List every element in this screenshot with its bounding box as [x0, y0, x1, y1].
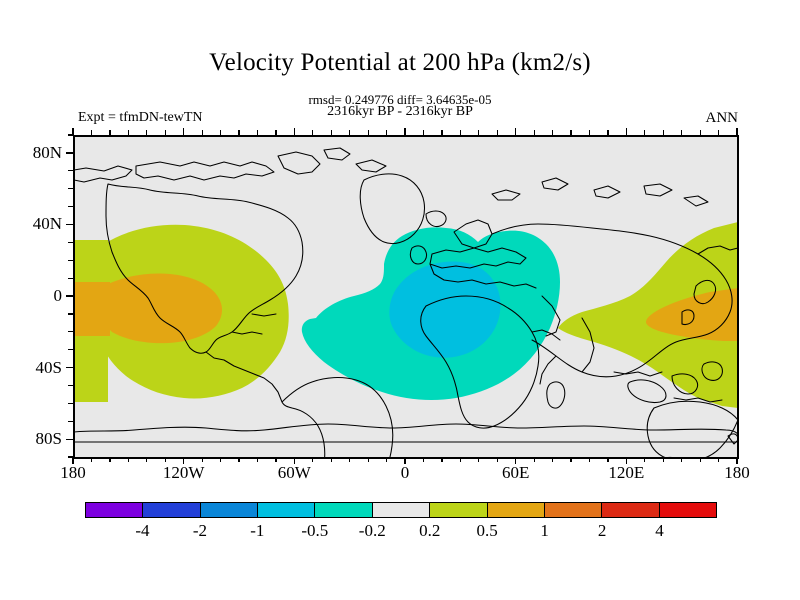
longitude-tick-top	[220, 130, 221, 135]
latitude-tick	[68, 349, 73, 350]
longitude-tick	[91, 457, 92, 462]
longitude-tick	[386, 457, 387, 462]
longitude-tick-top	[441, 130, 442, 135]
longitude-tick-top	[515, 128, 516, 135]
longitude-tick-top	[607, 130, 608, 135]
longitude-tick	[552, 457, 553, 462]
latitude-tick	[66, 367, 73, 368]
longitude-tick	[349, 457, 350, 462]
longitude-tick-top	[238, 130, 239, 135]
colorbar-tick-label-2: -1	[250, 521, 264, 541]
colorbar-band-6[interactable]	[430, 503, 487, 517]
colorbar-band-7[interactable]	[488, 503, 545, 517]
colorbar-band-4[interactable]	[315, 503, 372, 517]
longitude-tick-top	[183, 128, 184, 135]
longitude-tick-top	[72, 128, 73, 135]
page-title: Velocity Potential at 200 hPa (km2/s)	[0, 48, 800, 78]
longitude-tick-label-4: 60E	[502, 463, 529, 483]
colorbar-tick-label-5: 0.2	[419, 521, 440, 541]
colorbar-tick-label-7: 1	[540, 521, 549, 541]
longitude-tick-top	[534, 130, 535, 135]
latitude-tick	[68, 331, 73, 332]
latitude-tick	[68, 188, 73, 189]
longitude-tick	[238, 457, 239, 462]
longitude-tick	[681, 457, 682, 462]
longitude-tick-top	[368, 130, 369, 135]
longitude-tick	[589, 457, 590, 462]
longitude-tick-top	[736, 128, 737, 135]
longitude-tick-top	[589, 130, 590, 135]
longitude-tick	[423, 457, 424, 462]
colorbar-tick-label-3: -0.5	[301, 521, 328, 541]
longitude-tick	[331, 457, 332, 462]
latitude-tick-label-3: 40S	[0, 359, 62, 376]
latitude-tick	[68, 242, 73, 243]
longitude-tick	[700, 457, 701, 462]
longitude-tick	[497, 457, 498, 462]
longitude-tick-top	[165, 130, 166, 135]
colorbar-band-3[interactable]	[258, 503, 315, 517]
longitude-tick-top	[146, 130, 147, 135]
colorbar-band-5[interactable]	[373, 503, 430, 517]
map-plot-area	[73, 135, 739, 459]
longitude-tick	[607, 457, 608, 462]
longitude-tick-top	[681, 130, 682, 135]
latitude-tick-label-2: 0	[0, 287, 62, 304]
longitude-tick-top	[275, 130, 276, 135]
colorbar-band-1[interactable]	[143, 503, 200, 517]
longitude-tick	[718, 457, 719, 462]
latitude-tick	[68, 170, 73, 171]
colorbar-tick-label-6: 0.5	[477, 521, 498, 541]
longitude-tick-top	[626, 128, 627, 135]
latitude-tick	[68, 313, 73, 314]
longitude-tick-top	[109, 130, 110, 135]
longitude-tick-top	[91, 130, 92, 135]
colorbar-bands[interactable]	[85, 502, 717, 518]
colorbar[interactable]: -4-2-1-0.5-0.20.20.5124	[85, 502, 717, 518]
colorbar-tick-label-0: -4	[135, 521, 149, 541]
colorbar-band-8[interactable]	[545, 503, 602, 517]
longitude-tick-label-6: 180	[724, 463, 750, 483]
longitude-tick	[460, 457, 461, 462]
longitude-tick-top	[478, 130, 479, 135]
latitude-tick	[68, 385, 73, 386]
longitude-tick	[128, 457, 129, 462]
colorbar-band-9[interactable]	[602, 503, 659, 517]
latitude-tick-label-1: 40N	[0, 215, 62, 232]
latitude-tick	[66, 224, 73, 225]
world-map-contour-plot	[74, 136, 738, 458]
colorbar-tick-label-9: 4	[655, 521, 664, 541]
longitude-tick	[220, 457, 221, 462]
colorbar-band-2[interactable]	[201, 503, 258, 517]
latitude-tick	[68, 403, 73, 404]
longitude-tick-top	[423, 130, 424, 135]
latitude-tick-label-4: 80S	[0, 430, 62, 447]
latitude-tick	[66, 295, 73, 296]
longitude-tick	[368, 457, 369, 462]
latitude-tick	[68, 421, 73, 422]
colorbar-tick-label-1: -2	[193, 521, 207, 541]
longitude-tick	[275, 457, 276, 462]
longitude-tick	[146, 457, 147, 462]
longitude-tick-top	[202, 130, 203, 135]
longitude-tick-top	[349, 130, 350, 135]
longitude-tick-label-3: 0	[401, 463, 410, 483]
latitude-tick	[68, 206, 73, 207]
longitude-tick	[257, 457, 258, 462]
latitude-tick-label-0: 80N	[0, 144, 62, 161]
latitude-tick	[68, 278, 73, 279]
longitude-tick-top	[128, 130, 129, 135]
longitude-tick	[570, 457, 571, 462]
colorbar-tick-label-8: 2	[598, 521, 607, 541]
longitude-tick-top	[257, 130, 258, 135]
longitude-tick	[312, 457, 313, 462]
colorbar-band-0[interactable]	[86, 503, 143, 517]
latitude-tick	[66, 439, 73, 440]
longitude-tick-label-2: 60W	[278, 463, 311, 483]
longitude-tick-top	[644, 130, 645, 135]
longitude-tick	[478, 457, 479, 462]
latitude-tick	[66, 152, 73, 153]
longitude-tick	[441, 457, 442, 462]
longitude-tick	[663, 457, 664, 462]
longitude-tick-top	[718, 130, 719, 135]
field-east-pacific-core-west-edge	[74, 282, 110, 336]
longitude-tick	[165, 457, 166, 462]
longitude-tick	[534, 457, 535, 462]
longitude-tick	[644, 457, 645, 462]
longitude-tick-top	[386, 130, 387, 135]
latitude-tick	[68, 260, 73, 261]
longitude-tick-top	[497, 130, 498, 135]
colorbar-band-10[interactable]	[660, 503, 716, 517]
longitude-tick-top	[404, 128, 405, 135]
longitude-tick-top	[331, 130, 332, 135]
longitude-tick	[109, 457, 110, 462]
longitude-tick-top	[312, 130, 313, 135]
longitude-tick-label-5: 120E	[608, 463, 644, 483]
longitude-tick	[202, 457, 203, 462]
longitude-tick-top	[570, 130, 571, 135]
longitude-tick-top	[700, 130, 701, 135]
longitude-tick-label-0: 180	[60, 463, 86, 483]
longitude-tick-top	[460, 130, 461, 135]
longitude-tick-top	[663, 130, 664, 135]
experiment-label: Expt = tfmDN-tewTN	[78, 110, 203, 126]
season-label: ANN	[706, 110, 739, 126]
longitude-tick-top	[294, 128, 295, 135]
longitude-tick-label-1: 120W	[163, 463, 205, 483]
longitude-tick-top	[552, 130, 553, 135]
colorbar-tick-label-4: -0.2	[359, 521, 386, 541]
